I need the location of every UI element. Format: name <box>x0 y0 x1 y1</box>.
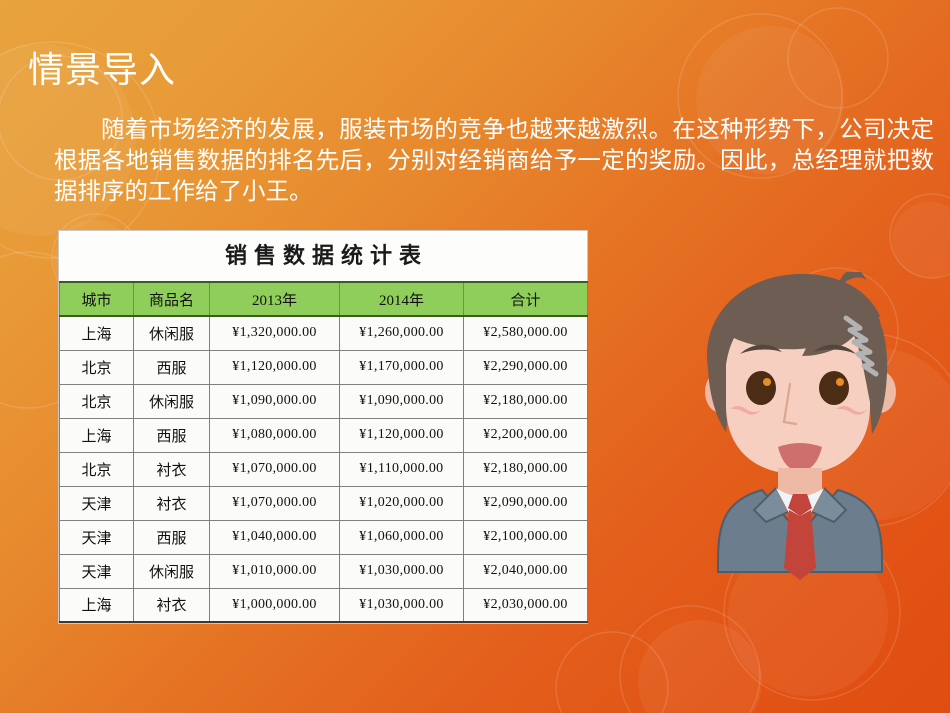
cell-2013: ¥1,000,000.00 <box>210 588 340 622</box>
cell-product: 休闲服 <box>134 554 210 588</box>
cell-2014: ¥1,020,000.00 <box>340 486 464 520</box>
cell-product: 休闲服 <box>134 316 210 350</box>
table-row: 上海西服¥1,080,000.00¥1,120,000.00¥2,200,000… <box>60 418 588 452</box>
cell-2014: ¥1,030,000.00 <box>340 588 464 622</box>
column-header-city: 城市 <box>60 282 134 316</box>
cell-product: 西服 <box>134 350 210 384</box>
cell-2013: ¥1,320,000.00 <box>210 316 340 350</box>
page-title: 情景导入 <box>28 48 176 92</box>
cell-product: 衬衣 <box>134 588 210 622</box>
cell-total: ¥2,100,000.00 <box>464 520 588 554</box>
cell-total: ¥2,580,000.00 <box>464 316 588 350</box>
cell-city: 上海 <box>60 588 134 622</box>
cell-city: 北京 <box>60 452 134 486</box>
cell-city: 上海 <box>60 418 134 452</box>
column-header-2014: 2014年 <box>340 282 464 316</box>
cell-2013: ¥1,080,000.00 <box>210 418 340 452</box>
cell-total: ¥2,180,000.00 <box>464 452 588 486</box>
cell-2013: ¥1,070,000.00 <box>210 452 340 486</box>
cell-2014: ¥1,260,000.00 <box>340 316 464 350</box>
businessman-illustration <box>690 272 950 622</box>
cell-2013: ¥1,120,000.00 <box>210 350 340 384</box>
cell-total: ¥2,180,000.00 <box>464 384 588 418</box>
table-caption: 销售数据统计表 <box>59 231 587 281</box>
cell-total: ¥2,040,000.00 <box>464 554 588 588</box>
cell-2014: ¥1,090,000.00 <box>340 384 464 418</box>
cell-city: 天津 <box>60 486 134 520</box>
cell-2014: ¥1,110,000.00 <box>340 452 464 486</box>
cell-total: ¥2,090,000.00 <box>464 486 588 520</box>
cell-product: 休闲服 <box>134 384 210 418</box>
table-row: 北京西服¥1,120,000.00¥1,170,000.00¥2,290,000… <box>60 350 588 384</box>
cell-city: 天津 <box>60 520 134 554</box>
table-row: 北京衬衣¥1,070,000.00¥1,110,000.00¥2,180,000… <box>60 452 588 486</box>
column-header-total: 合计 <box>464 282 588 316</box>
cell-2014: ¥1,060,000.00 <box>340 520 464 554</box>
table-header-row: 城市 商品名 2013年 2014年 合计 <box>60 282 588 316</box>
cell-total: ¥2,030,000.00 <box>464 588 588 622</box>
cell-2014: ¥1,120,000.00 <box>340 418 464 452</box>
cell-product: 西服 <box>134 520 210 554</box>
cell-2013: ¥1,010,000.00 <box>210 554 340 588</box>
slide-canvas: 情景导入 随着市场经济的发展，服装市场的竞争也越来越激烈。在这种形势下，公司决定… <box>0 0 950 713</box>
cell-total: ¥2,290,000.00 <box>464 350 588 384</box>
cell-product: 衬衣 <box>134 486 210 520</box>
cell-2013: ¥1,040,000.00 <box>210 520 340 554</box>
cell-city: 上海 <box>60 316 134 350</box>
cell-total: ¥2,200,000.00 <box>464 418 588 452</box>
cell-city: 北京 <box>60 350 134 384</box>
sales-data-table: 城市 商品名 2013年 2014年 合计 上海休闲服¥1,320,000.00… <box>59 281 588 623</box>
cell-product: 西服 <box>134 418 210 452</box>
column-header-product: 商品名 <box>134 282 210 316</box>
table-row: 天津西服¥1,040,000.00¥1,060,000.00¥2,100,000… <box>60 520 588 554</box>
table-row: 天津休闲服¥1,010,000.00¥1,030,000.00¥2,040,00… <box>60 554 588 588</box>
table-row: 上海休闲服¥1,320,000.00¥1,260,000.00¥2,580,00… <box>60 316 588 350</box>
cell-2014: ¥1,030,000.00 <box>340 554 464 588</box>
cell-city: 北京 <box>60 384 134 418</box>
cell-2013: ¥1,070,000.00 <box>210 486 340 520</box>
table-row: 天津衬衣¥1,070,000.00¥1,020,000.00¥2,090,000… <box>60 486 588 520</box>
table-row: 上海衬衣¥1,000,000.00¥1,030,000.00¥2,030,000… <box>60 588 588 622</box>
body-paragraph: 随着市场经济的发展，服装市场的竞争也越来越激烈。在这种形势下，公司决定根据各地销… <box>54 114 934 207</box>
cell-city: 天津 <box>60 554 134 588</box>
cell-product: 衬衣 <box>134 452 210 486</box>
cell-2013: ¥1,090,000.00 <box>210 384 340 418</box>
table-row: 北京休闲服¥1,090,000.00¥1,090,000.00¥2,180,00… <box>60 384 588 418</box>
cell-2014: ¥1,170,000.00 <box>340 350 464 384</box>
table-body: 上海休闲服¥1,320,000.00¥1,260,000.00¥2,580,00… <box>60 316 588 622</box>
sales-table-panel: 销售数据统计表 城市 商品名 2013年 2014年 合计 上海休闲服¥1,32… <box>58 230 588 624</box>
column-header-2013: 2013年 <box>210 282 340 316</box>
